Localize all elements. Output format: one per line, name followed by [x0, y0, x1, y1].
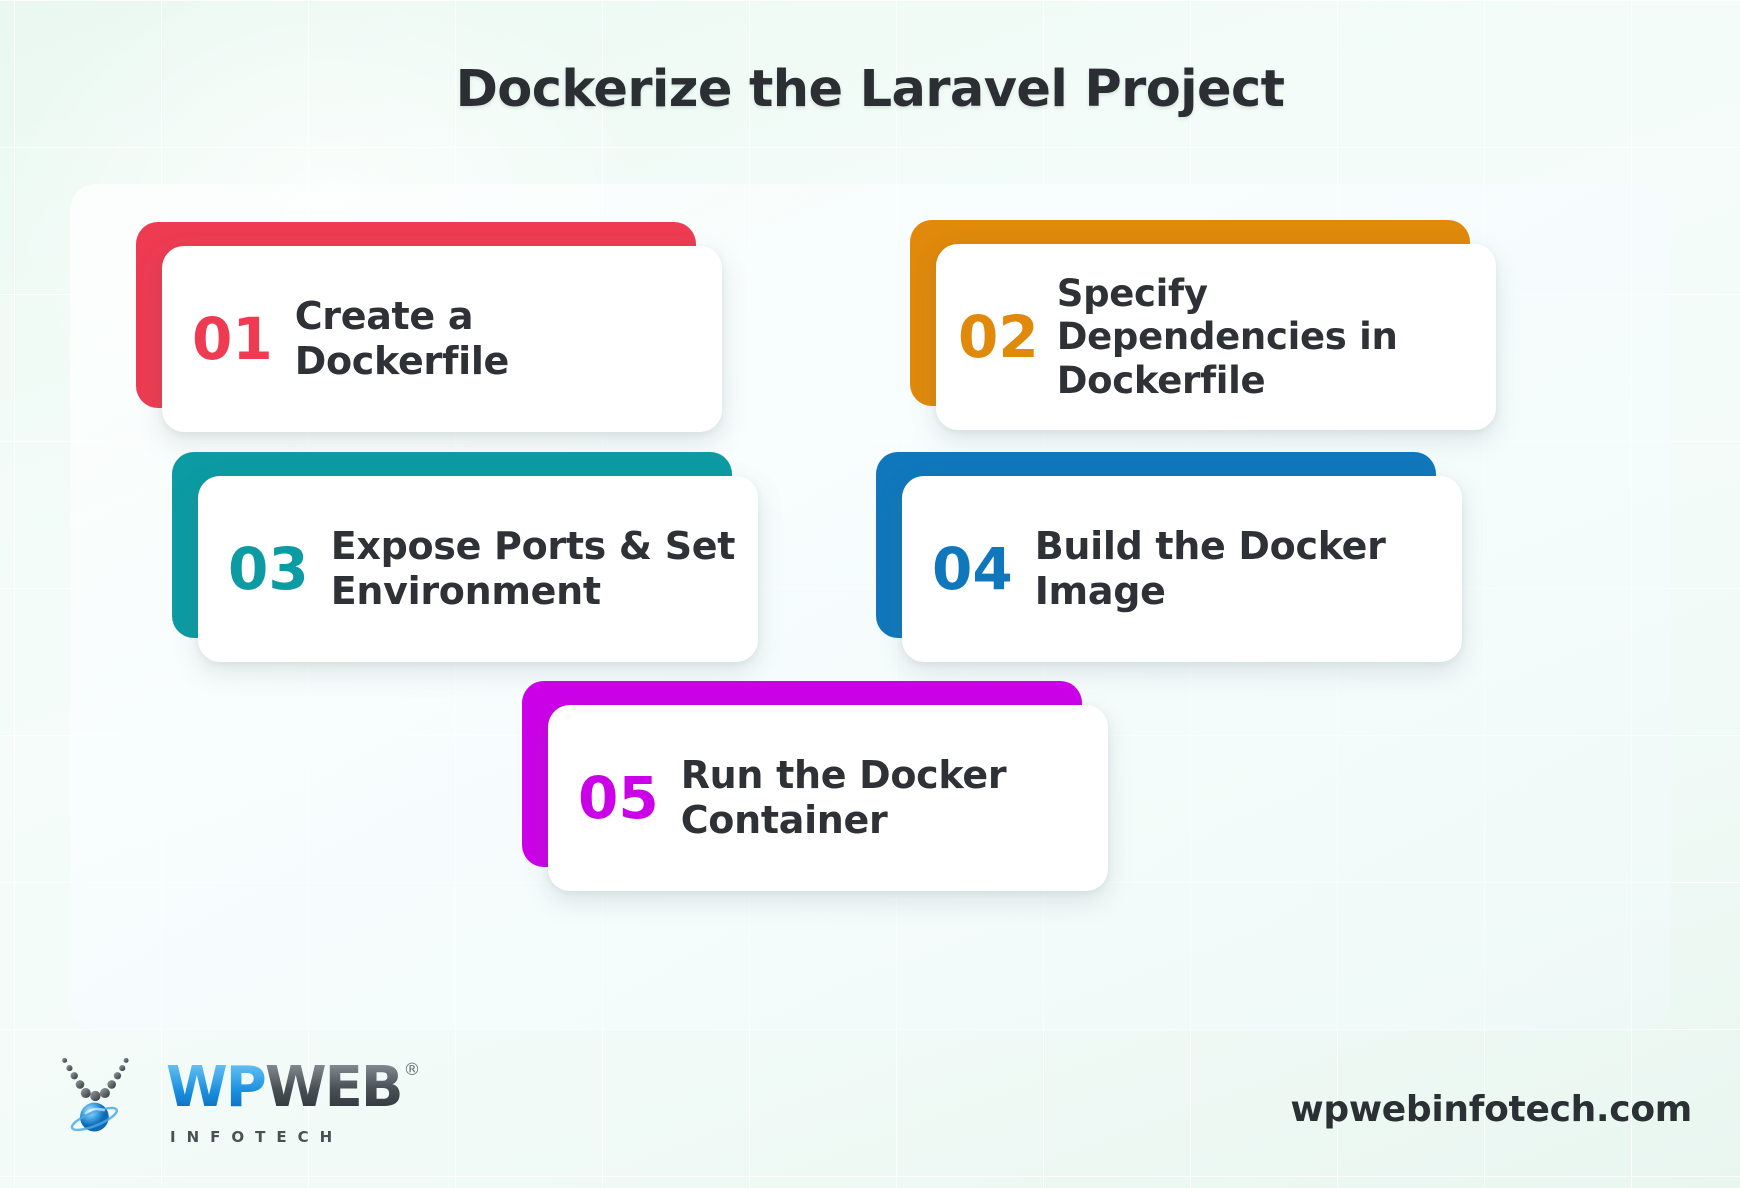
footer-logo[interactable]: WP WEB ® INFOTECH	[56, 1046, 421, 1146]
footer-website[interactable]: wpwebinfotech.com	[1290, 1089, 1692, 1130]
step-card-body-2: 02 Specify Dependencies in Dockerfile	[936, 244, 1496, 430]
step-label-1: Create a Dockerfile	[295, 294, 700, 384]
step-card-body-5: 05 Run the Docker Container	[548, 705, 1108, 891]
logo-wordmark-block: WP WEB ® INFOTECH	[166, 1046, 421, 1146]
step-card-body-1: 01 Create a Dockerfile	[162, 246, 722, 432]
step-card-3[interactable]: 03 Expose Ports & Set Environment	[172, 452, 732, 638]
step-card-4[interactable]: 04 Build the Docker Image	[876, 452, 1436, 638]
logo-web-text: WEB	[265, 1060, 402, 1116]
step-label-3: Expose Ports & Set Environment	[331, 524, 736, 614]
step-card-body-3: 03 Expose Ports & Set Environment	[198, 476, 758, 662]
logo-wp-text: WP	[166, 1060, 265, 1116]
step-number-5: 05	[578, 769, 659, 827]
step-label-5: Run the Docker Container	[681, 753, 1086, 843]
step-label-2: Specify Dependencies in Dockerfile	[1057, 272, 1474, 403]
step-number-3: 03	[228, 540, 309, 598]
step-number-2: 02	[958, 308, 1039, 366]
step-card-body-4: 04 Build the Docker Image	[902, 476, 1462, 662]
page-title: Dockerize the Laravel Project	[0, 60, 1740, 119]
registered-trademark-icon: ®	[404, 1062, 421, 1079]
step-card-1[interactable]: 01 Create a Dockerfile	[136, 222, 696, 408]
step-number-4: 04	[932, 540, 1013, 598]
logo-wordmark: WP WEB ®	[166, 1060, 421, 1116]
step-card-2[interactable]: 02 Specify Dependencies in Dockerfile	[910, 220, 1470, 406]
step-card-5[interactable]: 05 Run the Docker Container	[522, 681, 1082, 867]
wpweb-logo-icon	[56, 1046, 152, 1142]
step-label-4: Build the Docker Image	[1035, 524, 1440, 614]
logo-subtext: INFOTECH	[170, 1128, 421, 1146]
step-number-1: 01	[192, 310, 273, 368]
